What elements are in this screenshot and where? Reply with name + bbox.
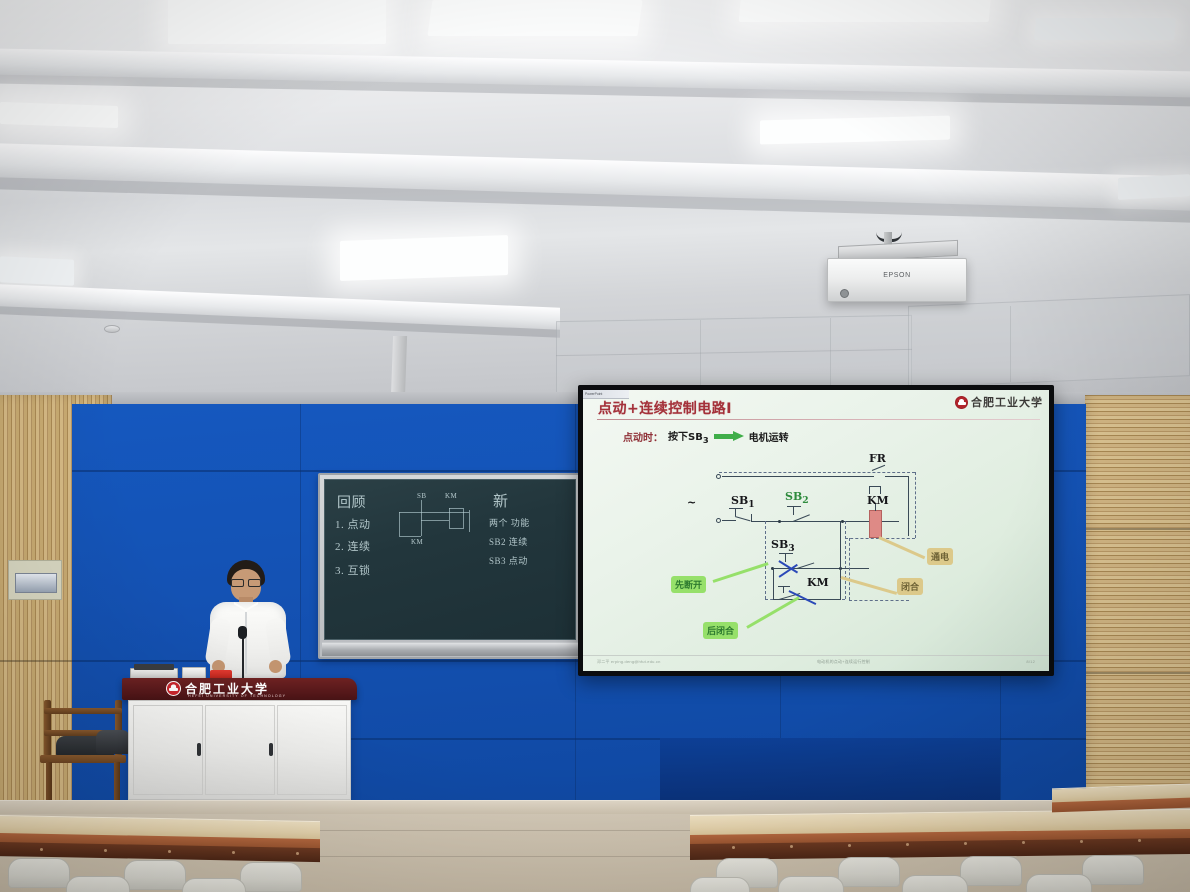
slide-footer-topic: 电动机的点动+连续运行控制 [661,659,1027,665]
seat-back [1026,874,1092,892]
circuit-wire [840,521,841,569]
circuit-sb2-actuator [787,506,801,507]
podium-door-handle[interactable] [197,743,201,756]
ceiling-light-panel [1034,18,1176,40]
circuit-wire [773,568,774,600]
circuit-label-sb2: SB2 [785,490,809,506]
chalk-tray [322,642,578,656]
circuit-dashed-wire [765,521,766,599]
blackboard-left-item: 2. 连续 [335,538,371,554]
blue-wall-lower [660,738,1000,804]
podium-header: 合肥工业大学 HEFEI UNIVERSITY OF TECHNOLOGY [122,678,357,700]
ceiling-light-panel [739,0,992,22]
seat-back [960,856,1022,886]
circuit-dashed-wire [849,600,909,601]
blackboard-sketch-line [449,528,464,529]
ceiling [0,0,1190,400]
circuit-node [841,520,844,523]
circuit-node [778,520,781,523]
circuit-dashed-wire [719,472,915,473]
circuit-terminal [716,518,721,523]
seat-back [902,875,968,892]
slide-footer-page: 8/12 [1026,659,1035,664]
wood-acoustic-panel-right [1085,395,1190,815]
blackboard-right-item: SB3 点动 [489,554,528,567]
seat-back [838,857,900,887]
podium-name-en: HEFEI UNIVERSITY OF TECHNOLOGY [188,694,286,698]
circuit-dashed-wire [845,521,846,599]
seat-back [778,876,844,892]
circuit-wire [722,476,874,477]
podium-door[interactable] [277,705,347,795]
circuit-label-fr: FR [869,452,886,465]
circuit-fr-heater [880,486,881,494]
desk-rivet [40,848,43,851]
circuit-wire [885,476,909,477]
desk-rivet [232,851,235,854]
lecture-hall-photo: EPSON 回顾 1. 点动 2. 连续 3. 互锁 SB KM [0,0,1190,892]
slide-footer: 邓二平 erping.deng@hfut.edu.cn 电动机的点动+连续运行控… [583,655,1049,667]
university-crest-icon [166,681,181,696]
lecturer-hand-right [269,660,282,673]
wall-light-fixture [8,560,62,600]
desk-rivet [732,846,735,849]
ceiling-light-panel [0,102,118,128]
blackboard-right-item: SB2 连续 [489,535,528,548]
ceiling-light-panel [0,256,74,285]
ceiling-light-panel [340,235,508,281]
circuit-sb1-actuator [735,508,736,516]
callout-first-open: 先断开 [671,576,706,593]
projector-brand-label: EPSON [828,272,966,279]
circuit-terminal [716,474,721,479]
projector: EPSON [827,258,967,302]
desk-rivet [168,850,171,853]
blackboard-left-heading: 回顾 [337,492,366,512]
circuit-wire [908,476,909,536]
blackboard-sketch-line [449,508,450,528]
desk-rivet [906,843,909,846]
circuit-km-coil [869,510,882,538]
desk-rivet [1080,840,1083,843]
slide-footer-author: 邓二平 erping.deng@hfut.edu.cn [597,659,661,665]
circuit-sb1-actuator [729,508,743,509]
circuit-sb2-actuator [793,506,794,515]
desk-rivet [964,842,967,845]
desk-rivet [104,849,107,852]
circuit-diagram: FR ~ SB1 [583,390,1049,671]
circuit-sb3-actuator [783,586,784,593]
blackboard-sketch-line [421,520,449,521]
projection-screen-frame: PowerPoint 点动+连续控制电路I 合肥工业大学 点动时： 按下SB3 … [578,385,1054,676]
blackboard: 回顾 1. 点动 2. 连续 3. 互锁 SB KM KM 新 两个 功能 SB… [318,473,582,659]
callout-leader [713,562,769,583]
circuit-sb3-actuator [778,586,790,587]
desk-rivet [1022,841,1025,844]
blackboard-sketch-label: KM [411,538,423,546]
circuit-wire [751,521,781,522]
circuit-sb3-actuator [779,553,793,554]
blackboard-sketch-label: KM [445,492,457,500]
ceiling-light-panel [168,0,386,44]
podium-name-cn: 合肥工业大学 [185,683,269,695]
blackboard-sketch-line [469,510,470,532]
podium-door[interactable] [205,705,275,795]
desk-rivet [790,845,793,848]
circuit-fr-contact [872,465,885,471]
circuit-wire [722,520,736,521]
wood-panel-seam [1085,528,1190,530]
circuit-wire [875,504,876,511]
circuit-wire [840,568,841,600]
ceiling-light-panel [760,116,950,145]
wood-panel-seam [1085,672,1190,674]
blackboard-right-item: 两个 功能 [489,516,530,529]
desk-rivet [848,844,851,847]
smoke-detector [104,325,120,333]
blackboard-sketch-line [399,512,400,536]
blackboard-left-item: 3. 互锁 [335,562,371,578]
circuit-dashed-wire [915,472,916,538]
seat-back [1082,855,1144,885]
podium-door-handle[interactable] [269,743,273,756]
bench-rail [44,708,122,714]
lecturer [196,560,300,678]
seat-back [8,858,70,888]
circuit-sb1-contact [735,516,751,521]
callout-leader [746,596,799,629]
circuit-label-ac: ~ [687,496,696,509]
ceiling-light-panel [1118,174,1190,200]
callout-energized: 通电 [927,548,953,565]
blackboard-sketch-line [421,500,422,536]
seat-back [690,877,750,892]
ceiling-grid-line [1010,306,1011,382]
desk-rivet [296,852,299,855]
blackboard-sketch-line [463,508,464,528]
blackboard-sketch-line [449,508,463,509]
blackboard-left-item: 1. 点动 [335,516,371,532]
blackboard-sketch-label: SB [417,492,427,500]
bag [96,730,130,754]
wall-light-lens [15,573,57,593]
callout-leader [878,536,925,559]
podium-door[interactable] [133,705,203,795]
circuit-label-sb3: SB3 [771,538,795,554]
blackboard-sketch-line [399,512,469,513]
lecturer-shirt-placket [245,612,247,674]
podium [128,700,351,800]
glasses-icon [231,579,261,585]
circuit-label-km-coil: KM [867,494,889,507]
blackboard-right-heading: 新 [493,490,509,511]
ceiling-speaker-pole [391,336,407,398]
circuit-fr-heater [869,486,870,494]
seat-back [66,876,130,892]
ceiling-tile [908,294,1190,388]
ceiling-grid-line [830,318,831,390]
circuit-sb3-actuator [785,553,786,562]
circuit-label-km-contact: KM [807,576,829,589]
callout-then-close: 后闭合 [703,622,738,639]
ceiling-light-panel [427,0,642,36]
seat-back [182,878,246,892]
projection-screen: PowerPoint 点动+连续控制电路I 合肥工业大学 点动时： 按下SB3 … [583,390,1049,671]
blackboard-sketch-line [399,536,421,537]
podium-device-screen [134,664,174,670]
projector-lens [840,289,849,298]
blackboard-surface: 回顾 1. 点动 2. 连续 3. 互锁 SB KM KM 新 两个 功能 SB… [324,479,576,640]
seat-back [240,862,302,892]
microphone [238,626,247,639]
circuit-dashed-wire [849,538,850,600]
callout-close: 闭合 [897,578,923,595]
ceiling-grid-line [700,320,701,392]
seat-back [124,860,186,890]
desk-rivet [1138,839,1141,842]
